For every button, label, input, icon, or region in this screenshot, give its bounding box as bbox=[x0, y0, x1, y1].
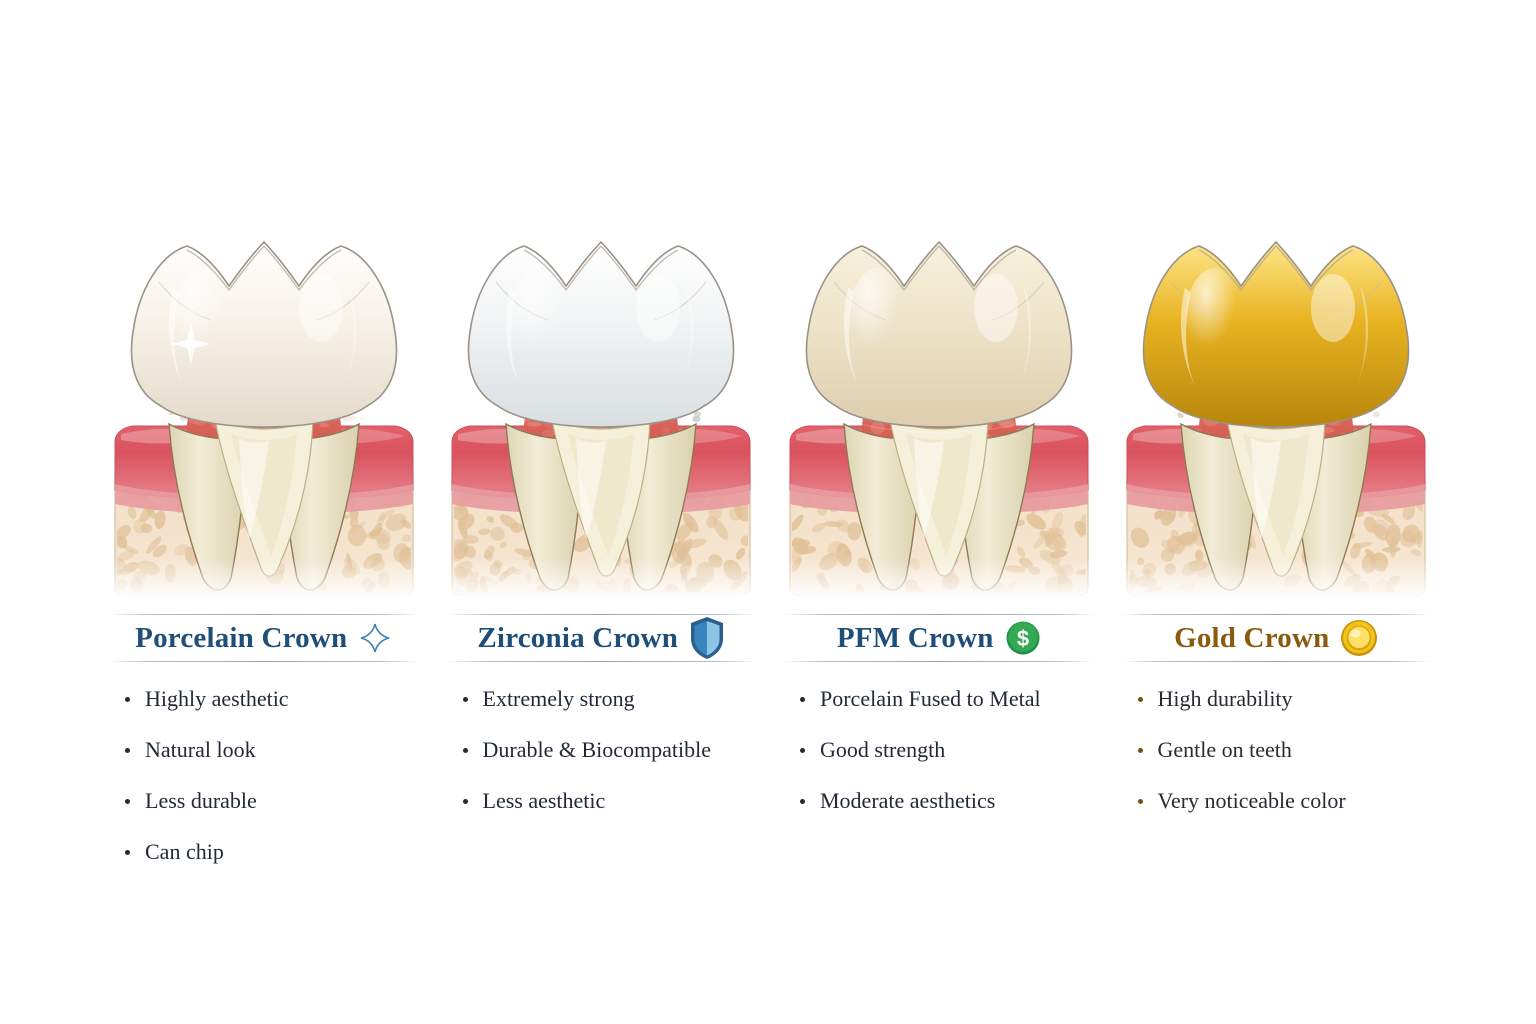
title-row: Porcelain Crown bbox=[109, 615, 419, 661]
svg-text:$: $ bbox=[1016, 626, 1028, 651]
crown-header: Porcelain Crown bbox=[109, 600, 419, 662]
shield-icon bbox=[689, 616, 725, 660]
crown-columns: Porcelain Crown Highly aestheticNatural … bbox=[95, 228, 1445, 868]
crown-comparison-board: Porcelain Crown Highly aestheticNatural … bbox=[0, 0, 1536, 1024]
feature-item: Gentle on teeth bbox=[1134, 739, 1446, 761]
crown-column-gold: Gold Crown High durabilityGentle on teet… bbox=[1108, 228, 1446, 868]
title-row: Gold Crown bbox=[1122, 615, 1432, 661]
tooth-cross-section-svg bbox=[436, 228, 766, 600]
header-rule-bottom bbox=[1122, 661, 1432, 662]
crown-column-zirconia: Zirconia Crown Extremely strongDurable &… bbox=[433, 228, 771, 868]
crown-cap bbox=[806, 242, 1071, 427]
crown-title-pfm: PFM Crown bbox=[837, 622, 994, 655]
feature-item: High durability bbox=[1134, 688, 1446, 710]
crown-feature-list-pfm: Porcelain Fused to MetalGood strengthMod… bbox=[796, 688, 1108, 841]
feature-item: Can chip bbox=[121, 841, 433, 863]
crown-feature-list-gold: High durabilityGentle on teethVery notic… bbox=[1134, 688, 1446, 841]
feature-item: Less aesthetic bbox=[459, 790, 771, 812]
tooth-cross-section-svg bbox=[99, 228, 429, 600]
feature-item: Very noticeable color bbox=[1134, 790, 1446, 812]
feature-item: Highly aesthetic bbox=[121, 688, 433, 710]
crown-title-porcelain: Porcelain Crown bbox=[135, 622, 347, 655]
tooth-illustration bbox=[433, 228, 771, 600]
crown-header: PFM Crown $ bbox=[784, 600, 1094, 662]
tooth-illustration bbox=[1108, 228, 1446, 600]
feature-item: Moderate aesthetics bbox=[796, 790, 1108, 812]
crown-feature-list-zirconia: Extremely strongDurable & BiocompatibleL… bbox=[459, 688, 771, 841]
tooth-cross-section-svg bbox=[774, 228, 1104, 600]
gold-coin-icon bbox=[1340, 619, 1378, 657]
feature-item: Less durable bbox=[121, 790, 433, 812]
title-row: PFM Crown $ bbox=[784, 615, 1094, 661]
crown-column-porcelain: Porcelain Crown Highly aestheticNatural … bbox=[95, 228, 433, 868]
tooth-cross-section-svg bbox=[1111, 228, 1441, 600]
tooth-illustration bbox=[95, 228, 433, 600]
feature-item: Porcelain Fused to Metal bbox=[796, 688, 1108, 710]
crown-cap bbox=[131, 242, 396, 427]
feature-item: Good strength bbox=[796, 739, 1108, 761]
crown-title-zirconia: Zirconia Crown bbox=[477, 622, 678, 655]
feature-item: Extremely strong bbox=[459, 688, 771, 710]
sparkle-diamond-icon bbox=[358, 621, 392, 655]
sparkle-diamond-icon bbox=[358, 621, 392, 655]
tooth-illustration bbox=[770, 228, 1108, 600]
crown-feature-list-porcelain: Highly aestheticNatural lookLess durable… bbox=[121, 688, 433, 892]
header-rule-bottom bbox=[109, 661, 419, 662]
feature-item: Natural look bbox=[121, 739, 433, 761]
gold-coin-icon bbox=[1340, 619, 1378, 657]
crown-column-pfm: PFM Crown $ Porcelain Fused to MetalGood… bbox=[770, 228, 1108, 868]
shield-icon bbox=[689, 616, 725, 660]
crown-title-gold: Gold Crown bbox=[1174, 622, 1329, 655]
title-row: Zirconia Crown bbox=[447, 615, 757, 661]
crown-cap bbox=[1144, 242, 1409, 427]
crown-header: Gold Crown bbox=[1122, 600, 1432, 662]
dollar-badge-icon: $ bbox=[1005, 620, 1041, 656]
header-rule-bottom bbox=[784, 661, 1094, 662]
dollar-badge-icon: $ bbox=[1005, 620, 1041, 656]
crown-cap bbox=[469, 242, 734, 427]
header-rule-bottom bbox=[447, 661, 757, 662]
crown-header: Zirconia Crown bbox=[447, 600, 757, 662]
feature-item: Durable & Biocompatible bbox=[459, 739, 771, 761]
